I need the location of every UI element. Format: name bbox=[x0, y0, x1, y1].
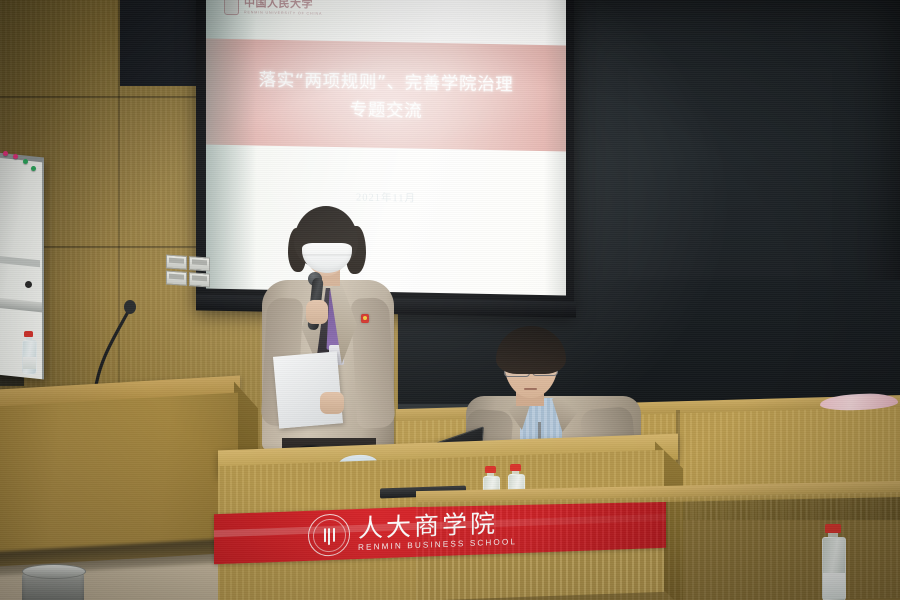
slide-title-band: 落实“两项规则”、完善学院治理 专题交流 bbox=[206, 39, 566, 152]
magnet-icon bbox=[23, 159, 28, 164]
speaker-right-arm bbox=[351, 297, 396, 429]
university-emblem-icon bbox=[224, 0, 239, 15]
water-bottle bbox=[822, 524, 844, 600]
paper-sheet bbox=[273, 351, 343, 428]
wall-panel-switch[interactable] bbox=[166, 254, 187, 270]
speaker-hand-holding-mic bbox=[306, 300, 328, 324]
whiteboard-knob bbox=[25, 281, 32, 288]
water-bottle bbox=[22, 331, 35, 373]
magnet-icon bbox=[3, 151, 8, 156]
slide-title-line-1: 落实“两项规则”、完善学院治理 bbox=[259, 66, 514, 96]
magnet-icon bbox=[31, 166, 36, 171]
wall-panel-switch[interactable] bbox=[189, 272, 210, 288]
face-mask bbox=[302, 243, 352, 273]
university-logo-cn: 中国人民大学 bbox=[244, 0, 322, 10]
university-logo-en: RENMIN UNIVERSITY OF CHINA bbox=[244, 11, 322, 16]
slide-title: 落实“两项规则”、完善学院治理 专题交流 bbox=[206, 39, 566, 152]
university-logo: 中国人民大学 RENMIN UNIVERSITY OF CHINA bbox=[224, 0, 344, 23]
wall-panel-switch[interactable] bbox=[166, 270, 187, 286]
participant-hair bbox=[496, 326, 566, 374]
renmin-business-school-emblem-icon bbox=[308, 513, 350, 557]
trash-can-rim bbox=[22, 564, 86, 579]
magnet-icon bbox=[13, 154, 18, 159]
standing-speaker bbox=[258, 206, 398, 458]
wall-control-panel[interactable] bbox=[166, 254, 210, 287]
wall-panel-switch[interactable] bbox=[189, 256, 210, 272]
speaker-hand-holding-paper bbox=[320, 392, 344, 414]
slide-title-line-2: 专题交流 bbox=[350, 96, 422, 122]
lapel-pin bbox=[361, 314, 369, 323]
lecture-hall-photo: 中国人民大学 RENMIN UNIVERSITY OF CHINA 落实“两项规… bbox=[0, 0, 900, 600]
